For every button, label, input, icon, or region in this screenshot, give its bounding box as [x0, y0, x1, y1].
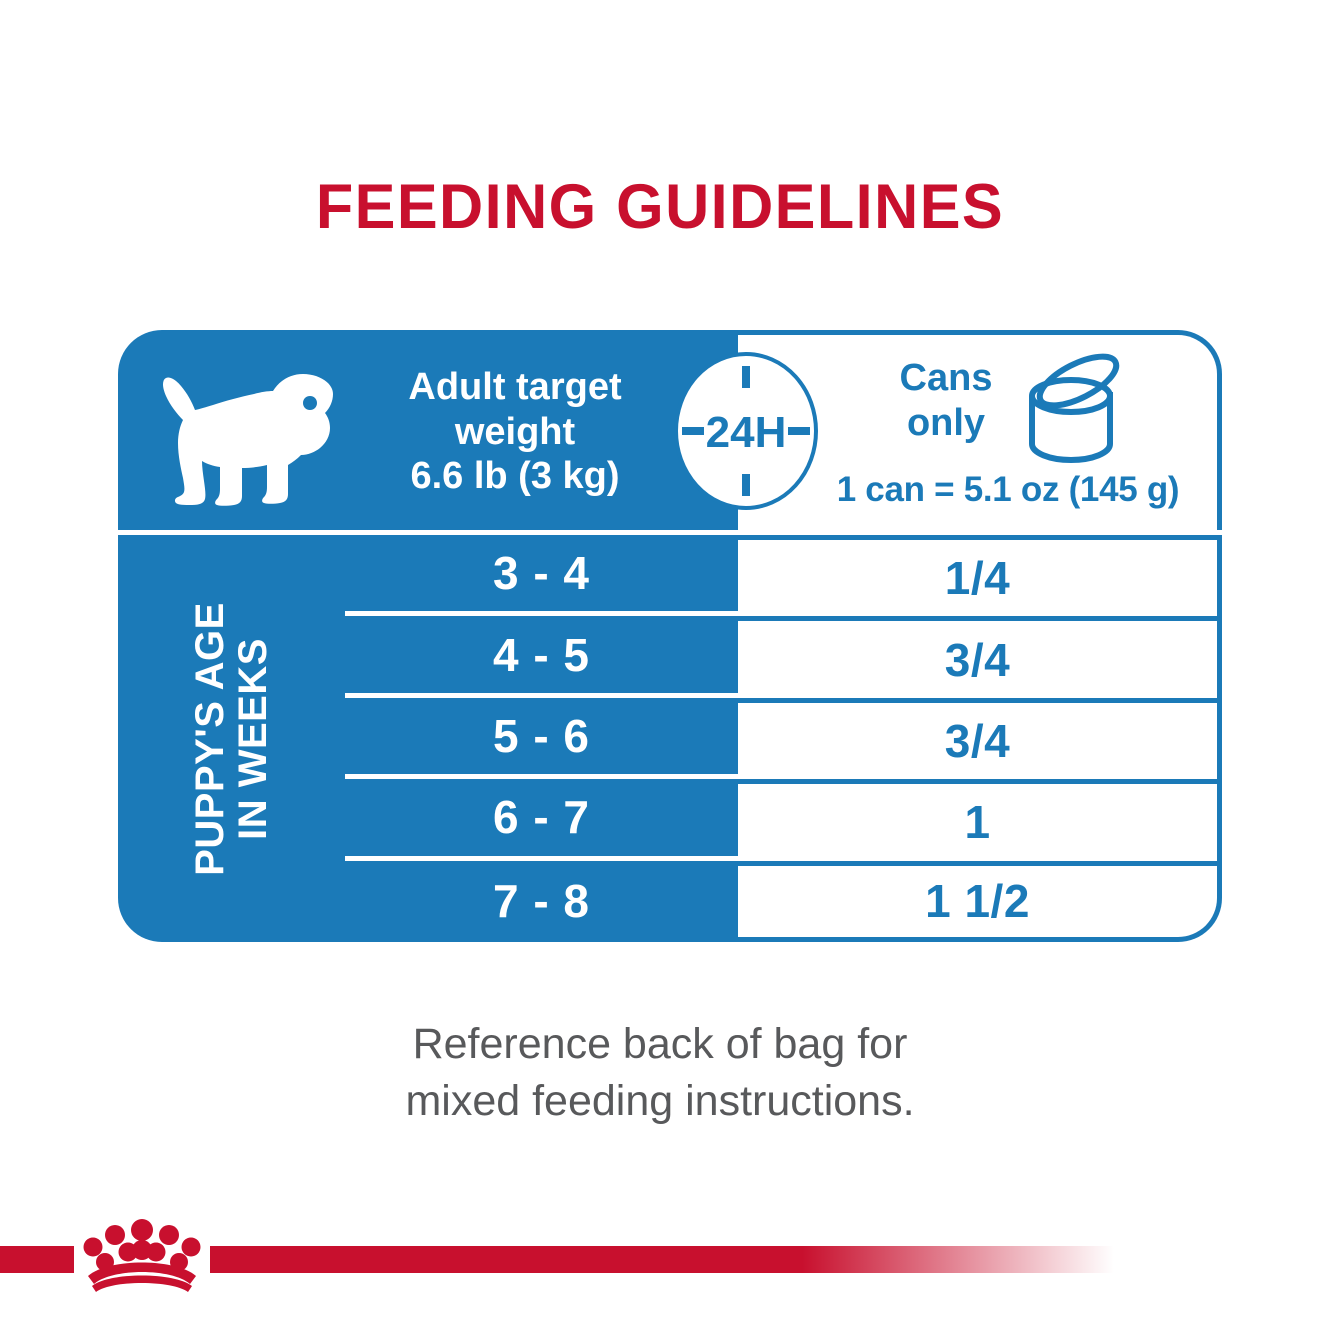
puppy-silhouette-icon: [140, 358, 350, 508]
row-axis-label: PUPPY'S AGE IN WEEKS: [188, 602, 274, 876]
cell-age: 3 - 4: [345, 535, 738, 611]
adult-target-weight-header: Adult target weight 6.6 lb (3 kg): [350, 358, 680, 506]
row-axis-label-line2: IN WEEKS: [232, 602, 275, 876]
row-axis-label-line1: PUPPY'S AGE: [188, 602, 231, 876]
feeding-table: Adult target weight 6.6 lb (3 kg) 24H Ca…: [118, 330, 1222, 942]
open-can-icon: [1006, 348, 1136, 468]
footer-note-line1: Reference back of bag for: [0, 1016, 1320, 1073]
cell-age: 5 - 6: [345, 698, 738, 774]
footer-note: Reference back of bag for mixed feeding …: [0, 1016, 1320, 1130]
cell-amount: 1: [738, 779, 1222, 860]
cell-amount: 3/4: [738, 698, 1222, 779]
cell-age: 6 - 7: [345, 779, 738, 855]
page-title: FEEDING GUIDELINES: [20, 176, 1300, 239]
table-row: 6 - 7 1: [345, 779, 1222, 860]
table-rows: 3 - 4 1/4 4 - 5 3/4 5 - 6 3/4 6 - 7 1 7 …: [345, 535, 1222, 942]
clock-24h-icon: 24H: [674, 352, 818, 510]
table-row: 7 - 8 1 1/2: [345, 861, 1222, 942]
cell-age: 4 - 5: [345, 616, 738, 692]
royal-canin-crown-logo: [78, 1218, 206, 1296]
cell-age: 7 - 8: [345, 861, 738, 942]
adult-target-weight-value: 6.6 lb (3 kg): [410, 454, 619, 499]
feeding-guidelines-page: FEEDING GUIDELINES Adult target weight 6…: [0, 0, 1320, 1320]
table-row: 4 - 5 3/4: [345, 616, 1222, 697]
cell-amount: 1/4: [738, 535, 1222, 616]
adult-target-weight-label-line2: weight: [455, 410, 575, 455]
footer-note-line2: mixed feeding instructions.: [0, 1073, 1320, 1130]
cell-amount: 1 1/2: [738, 861, 1222, 942]
cell-amount: 3/4: [738, 616, 1222, 697]
svg-text:24H: 24H: [706, 408, 787, 457]
table-row: 5 - 6 3/4: [345, 698, 1222, 779]
can-size-note: 1 can = 5.1 oz (145 g): [798, 470, 1218, 510]
row-axis-spine: PUPPY'S AGE IN WEEKS: [118, 535, 345, 942]
table-row: 3 - 4 1/4: [345, 535, 1222, 616]
adult-target-weight-label-line1: Adult target: [408, 365, 621, 410]
